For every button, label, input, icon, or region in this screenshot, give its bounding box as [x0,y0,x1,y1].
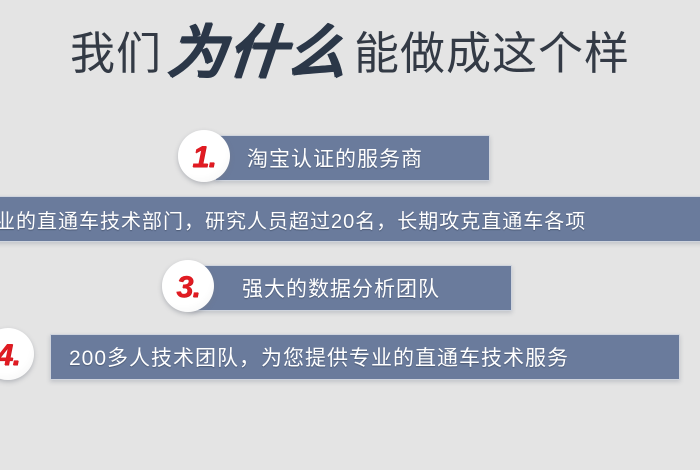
feature-text-2: 业的直通车技术部门，研究人员超过20名，长期攻克直通车各项 [0,205,586,234]
headline-prefix: 我们 [70,31,162,76]
list-item: 淘宝认证的服务商 1. [0,135,700,195]
number-badge-label-3: 3. [176,271,200,302]
feature-text-4: 200多人技术团队，为您提供专业的直通车技术服务 [69,342,569,372]
headline-suffix: 能做成这个样 [354,31,630,76]
feature-bar-4: 200多人技术团队，为您提供专业的直通车技术服务 [50,334,680,380]
number-badge-4: 4. [0,328,34,380]
feature-bar-3: 强大的数据分析团队 [190,265,512,311]
feature-bar-1: 淘宝认证的服务商 [215,135,490,181]
feature-text-1: 淘宝认证的服务商 [247,143,423,173]
feature-text-3: 强大的数据分析团队 [242,273,440,303]
feature-bar-2: 业的直通车技术部门，研究人员超过20名，长期攻克直通车各项 [0,196,700,242]
list-item: 业的直通车技术部门，研究人员超过20名，长期攻克直通车各项 [0,196,700,256]
list-item: 强大的数据分析团队 3. [0,265,700,325]
promo-poster: 我们为什么能做成这个样 淘宝认证的服务商 1. 业的直通车技术部门，研究人员超过… [0,0,700,470]
number-badge-label-4: 4. [0,339,20,370]
headline-emphasis: 为什么 [165,24,350,82]
number-badge-label-1: 1. [192,141,216,172]
page-title: 我们为什么能做成这个样 [0,10,700,96]
number-badge-3: 3. [162,260,214,312]
number-badge-1: 1. [178,130,230,182]
list-item: 200多人技术团队，为您提供专业的直通车技术服务 4. [0,334,700,394]
